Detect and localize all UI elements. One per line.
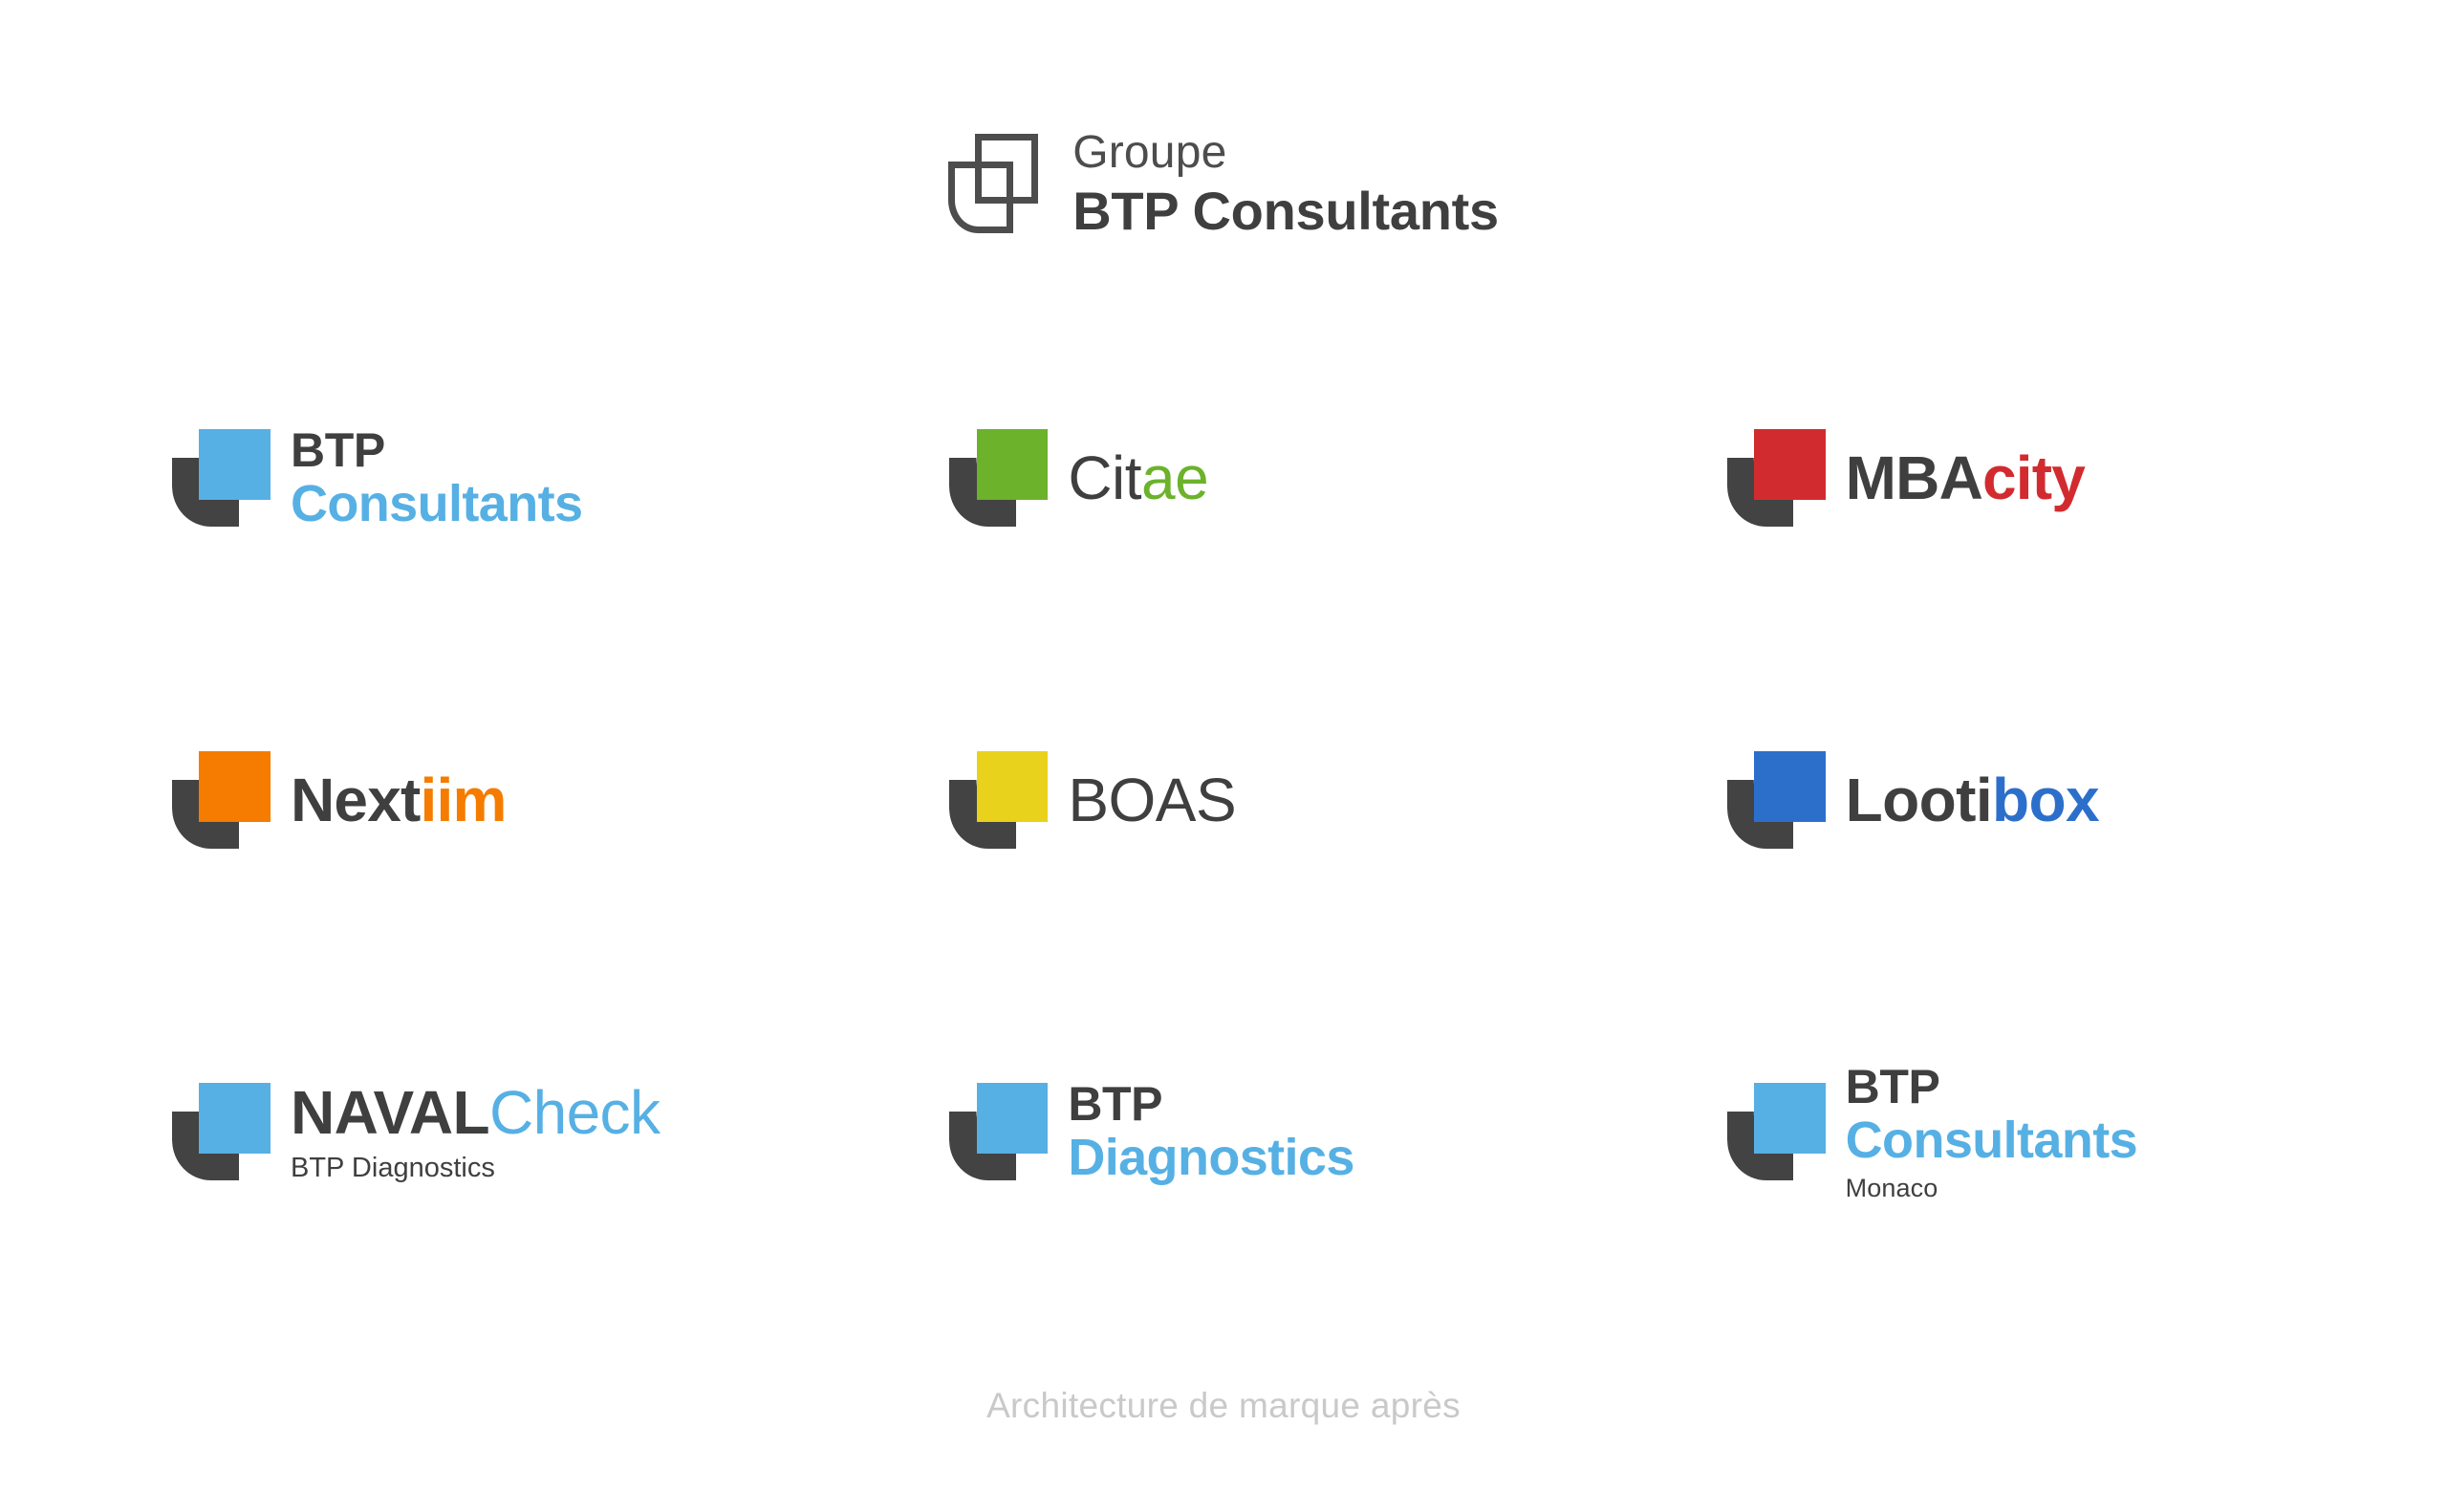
logo-cell-nextiim: Nextiim	[0, 704, 815, 896]
wordmark-line2: Diagnostics	[1068, 1132, 1353, 1183]
logo-btp-consultants-monaco: BTP Consultants Monaco	[1727, 1063, 2137, 1201]
logo-cell-boas: BOAS	[815, 704, 1631, 896]
logo-grid: BTP Consultants Citae MBAcity	[0, 382, 2447, 1237]
brand-mark-icon	[1727, 429, 1826, 528]
wordmark: BTP Diagnostics	[1068, 1080, 1353, 1183]
btp-outline-mark-icon	[948, 134, 1038, 233]
brand-mark-icon	[1727, 751, 1826, 850]
logo-mbacity: MBAcity	[1727, 429, 2085, 528]
wordmark-line: MBAcity	[1846, 447, 2085, 508]
brand-mark-icon	[949, 1083, 1048, 1181]
logo-btp-consultants: BTP Consultants	[172, 426, 582, 529]
brand-mark-icon	[949, 429, 1048, 528]
brand-mark-icon	[1727, 1083, 1826, 1181]
mark-square	[1754, 429, 1826, 501]
mark-square	[199, 751, 271, 823]
logo-cell-btp-diagnostics: BTP Diagnostics	[815, 1026, 1631, 1237]
wordmark: NAVALCheck BTP Diagnostics	[291, 1082, 660, 1182]
wordmark-part1: NAVAL	[291, 1078, 489, 1147]
wordmark-line: Citae	[1068, 447, 1208, 508]
logo-citae: Citae	[949, 429, 1208, 528]
wordmark-line1: BTP	[1846, 1063, 2137, 1111]
logo-cell-citae: Citae	[815, 382, 1631, 573]
wordmark: MBAcity	[1846, 447, 2085, 508]
wordmark-part1: MBA	[1846, 443, 1982, 512]
logo-boas: BOAS	[949, 751, 1236, 850]
wordmark-part2: iim	[421, 766, 507, 834]
logo-nextiim: Nextiim	[172, 751, 507, 850]
wordmark-sub: BTP Diagnostics	[291, 1155, 660, 1182]
logo-cell-navalcheck: NAVALCheck BTP Diagnostics	[0, 1026, 815, 1237]
wordmark: BTP Consultants Monaco	[1846, 1063, 2137, 1201]
wordmark-part2: ae	[1141, 443, 1208, 512]
group-header-line1: Groupe	[1072, 130, 1499, 176]
mark-square	[977, 429, 1049, 501]
mark-square-outline	[975, 134, 1038, 204]
wordmark: Citae	[1068, 447, 1208, 508]
logo-cell-btp-consultants-monaco: BTP Consultants Monaco	[1632, 1026, 2447, 1237]
mark-square	[977, 751, 1049, 823]
group-header-text: Groupe BTP Consultants	[1072, 130, 1499, 238]
brand-mark-icon	[172, 429, 271, 528]
wordmark: BOAS	[1068, 769, 1236, 831]
mark-square	[1754, 751, 1826, 823]
mark-square	[199, 1083, 271, 1155]
mark-square	[977, 1083, 1049, 1155]
caption: Architecture de marque après	[0, 1386, 2447, 1426]
mark-square	[199, 429, 271, 501]
wordmark-line: Lootibox	[1846, 769, 2099, 831]
brand-mark-icon	[172, 751, 271, 850]
logo-btp-diagnostics: BTP Diagnostics	[949, 1080, 1353, 1183]
brand-mark-icon	[949, 751, 1048, 850]
group-header-line2: BTP Consultants	[1072, 184, 1499, 238]
wordmark-sub: Monaco	[1846, 1176, 2137, 1201]
wordmark-line1: BTP	[291, 426, 582, 474]
wordmark-part1: Next	[291, 766, 421, 834]
wordmark-part1: BOAS	[1068, 766, 1236, 834]
wordmark-part1: Looti	[1846, 766, 1992, 834]
logo-navalcheck: NAVALCheck BTP Diagnostics	[172, 1082, 660, 1182]
wordmark: Nextiim	[291, 769, 507, 831]
wordmark-line2: Consultants	[1846, 1114, 2137, 1166]
wordmark-part1: Cit	[1068, 443, 1141, 512]
wordmark-line: NAVALCheck	[291, 1082, 660, 1143]
wordmark-line2: Consultants	[291, 478, 582, 529]
wordmark-part2: Check	[489, 1078, 660, 1147]
wordmark-line: Nextiim	[291, 769, 507, 831]
logo-lootibox: Lootibox	[1727, 751, 2099, 850]
mark-square	[1754, 1083, 1826, 1155]
wordmark: BTP Consultants	[291, 426, 582, 529]
wordmark-line1: BTP	[1068, 1080, 1353, 1128]
wordmark-part2: city	[1982, 443, 2085, 512]
logo-cell-lootibox: Lootibox	[1632, 704, 2447, 896]
wordmark-line: BOAS	[1068, 769, 1236, 831]
group-header: Groupe BTP Consultants	[0, 130, 2447, 238]
wordmark-part2: box	[1992, 766, 2099, 834]
logo-cell-mbacity: MBAcity	[1632, 382, 2447, 573]
wordmark: Lootibox	[1846, 769, 2099, 831]
logo-cell-btp-consultants: BTP Consultants	[0, 382, 815, 573]
brand-mark-icon	[172, 1083, 271, 1181]
